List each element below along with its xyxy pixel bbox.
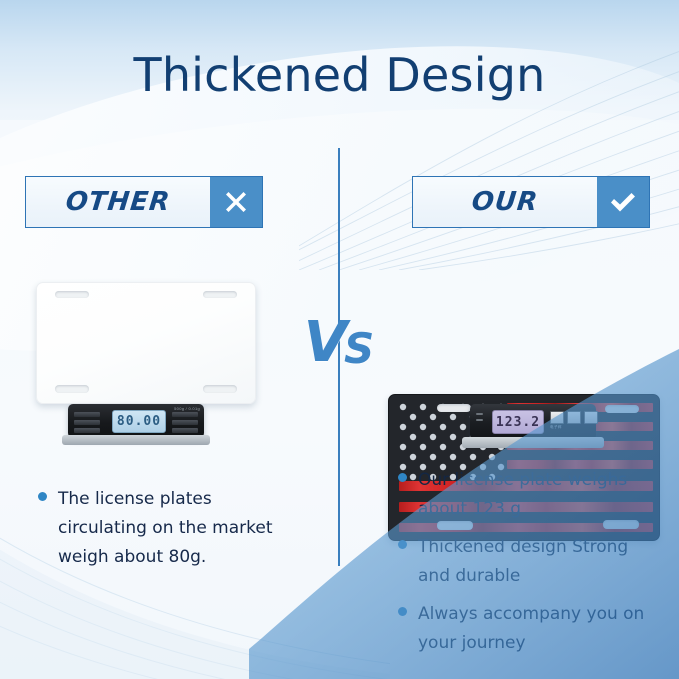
scale-brand-left: 500g / 0.01g — [174, 406, 200, 411]
scale-brand-right: 电子秤 — [550, 425, 562, 430]
page-title: Thickened Design — [0, 48, 679, 102]
scale-keypad[interactable] — [550, 411, 598, 424]
bullet-text: Thickened design Strong and durable — [418, 533, 660, 591]
scale-button[interactable] — [74, 428, 100, 433]
list-item: Thickened design Strong and durable — [398, 533, 660, 591]
scale-button[interactable] — [172, 412, 198, 417]
scale-button[interactable] — [74, 420, 100, 425]
bullet-dot-icon — [398, 607, 407, 616]
scale-key[interactable] — [584, 411, 598, 424]
bullet-dot-icon — [38, 492, 47, 501]
plate-slot — [437, 404, 471, 412]
background-fan-lines — [299, 0, 679, 270]
scale-base — [462, 437, 604, 448]
white-license-plate — [36, 282, 256, 404]
bullet-text: Our license plate weighs about 123 g — [418, 466, 660, 524]
scale-display-left: 80.00 — [112, 410, 166, 433]
scale-key[interactable] — [567, 411, 581, 424]
bullet-dot-icon — [398, 540, 407, 549]
bullet-dot-icon — [398, 473, 407, 482]
list-item: Always accompany you on your journey — [398, 600, 660, 658]
bullet-text: The license plates circulating on the ma… — [58, 485, 288, 572]
compare-label-other: OTHER — [23, 177, 212, 227]
bullet-list-left: The license plates circulating on the ma… — [38, 485, 288, 581]
scale-right: 123.2 电子秤 — [470, 404, 596, 440]
scale-button[interactable] — [74, 412, 100, 417]
compare-header-other: OTHER — [25, 176, 263, 228]
scale-button[interactable] — [172, 428, 198, 433]
scale-key[interactable] — [550, 411, 564, 424]
scale-button-group-right[interactable] — [172, 412, 198, 433]
vs-badge: VS — [301, 303, 377, 369]
scale-base — [62, 435, 210, 445]
plate-slot — [203, 385, 237, 393]
plate-slot — [605, 405, 639, 413]
bullet-list-right: Our license plate weighs about 123 g Thi… — [398, 466, 660, 667]
scale-indicator-dots — [476, 413, 483, 425]
scale-button-group-left[interactable] — [74, 412, 100, 433]
bullet-text: Always accompany you on your journey — [418, 600, 660, 658]
compare-header-our: OUR — [412, 176, 650, 228]
scale-button[interactable] — [172, 420, 198, 425]
vs-letter-s: S — [344, 329, 374, 369]
list-item: The license plates circulating on the ma… — [38, 485, 288, 572]
scale-left: 500g / 0.01g 80.00 — [68, 404, 204, 438]
scale-display-right: 123.2 — [492, 410, 544, 434]
plate-slot — [55, 291, 89, 298]
list-item: Our license plate weighs about 123 g — [398, 466, 660, 524]
check-icon — [597, 177, 649, 227]
plate-slot — [203, 291, 237, 298]
promo-poster: Thickened Design OTHER OUR VS 500g / 0.0… — [0, 0, 679, 679]
plate-slot — [55, 385, 89, 393]
vs-letter-v: V — [304, 316, 347, 369]
cross-icon — [210, 177, 262, 227]
compare-label-our: OUR — [410, 177, 599, 227]
